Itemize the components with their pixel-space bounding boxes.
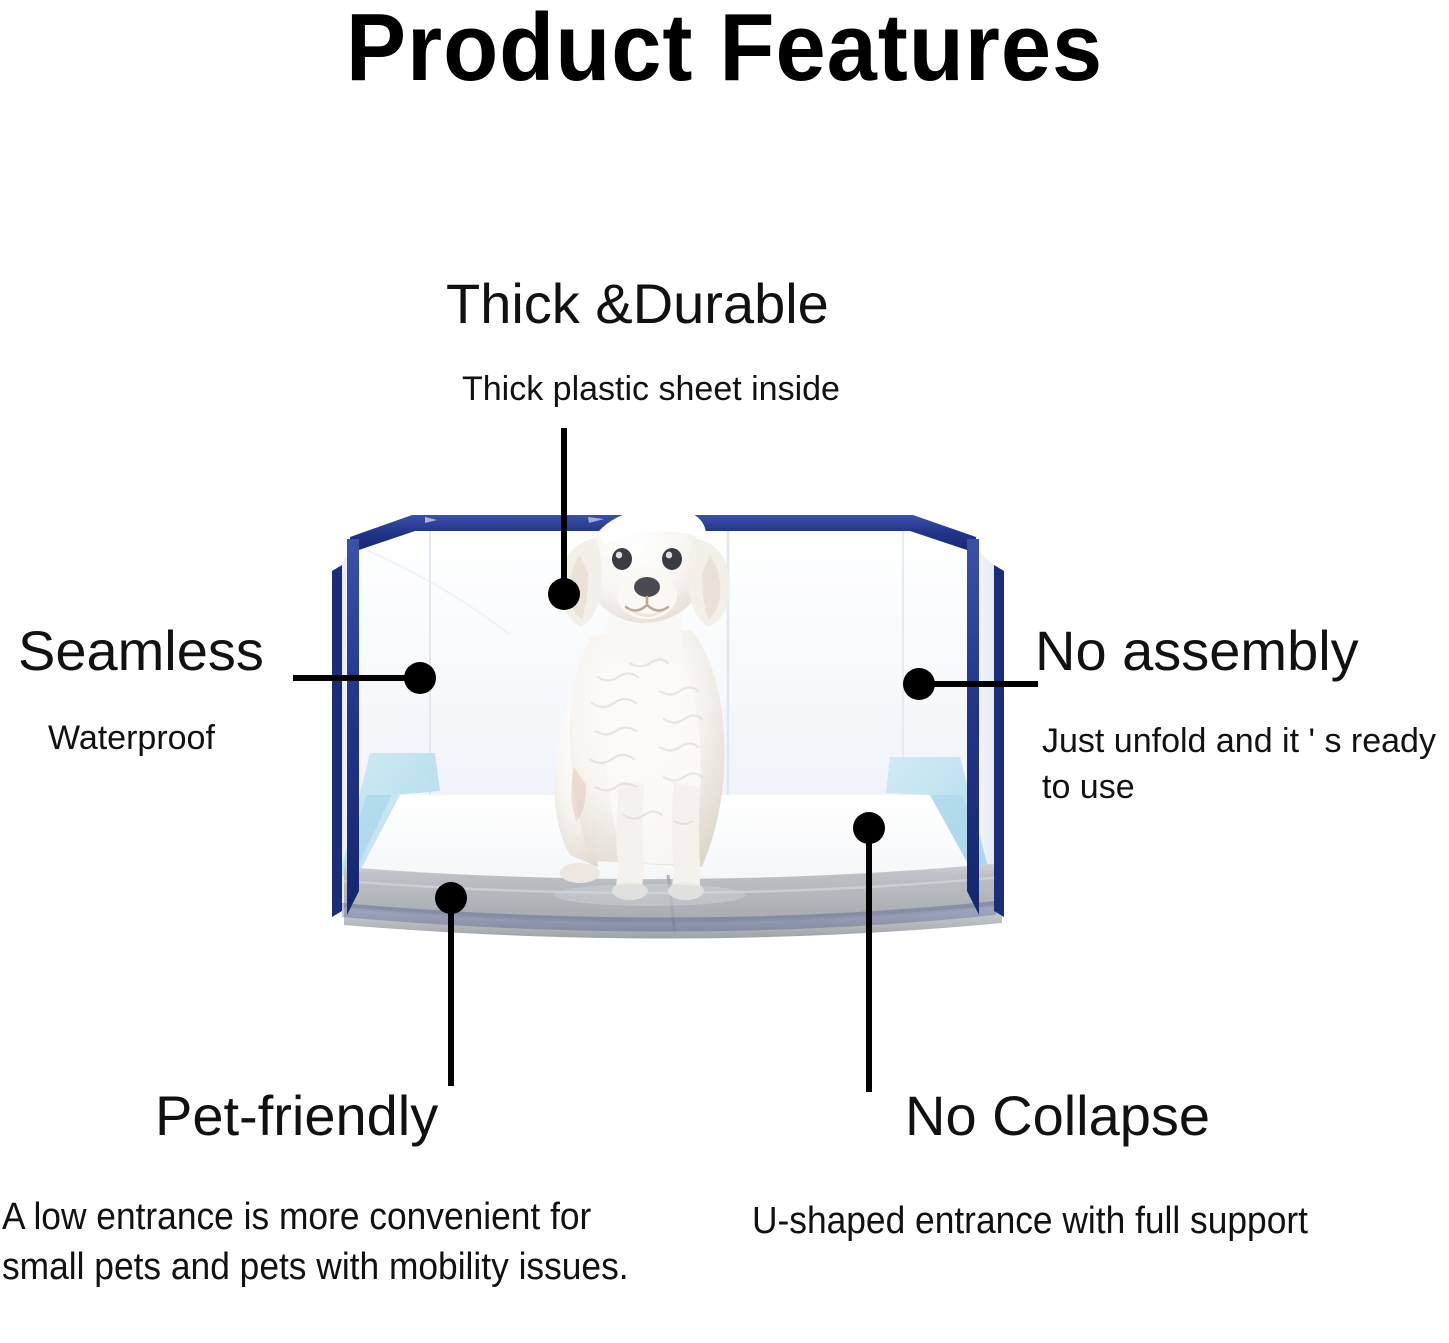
page-title: Product Features [43, 0, 1405, 100]
product-image [330, 495, 1040, 955]
leader-dot-no-collapse [853, 812, 885, 844]
feature-heading-no-collapse: No Collapse [905, 1084, 1210, 1148]
pen-right-post [967, 539, 979, 915]
feature-subtext-no-collapse: U-shaped entrance with full support [752, 1196, 1403, 1246]
feature-subtext-no-assembly: Just unfold and it ' s ready to use [1042, 718, 1449, 810]
leader-dot-seamless [404, 662, 436, 694]
feature-subtext-seamless: Waterproof [48, 715, 215, 761]
leader-line-no-collapse [866, 826, 872, 1092]
leader-dot-pet-friendly [435, 882, 467, 914]
pen-left-edge [332, 565, 342, 917]
feature-subtext-pet-friendly: A low entrance is more convenient for sm… [2, 1192, 653, 1292]
dog-eye-right [662, 548, 682, 570]
pet-pen-illustration [330, 495, 1040, 955]
leader-line-pet-friendly [448, 896, 454, 1086]
leader-line-no-assembly [922, 681, 1038, 687]
feature-heading-pet-friendly: Pet-friendly [155, 1084, 438, 1148]
leader-line-thick-durable [561, 428, 567, 594]
leader-dot-thick-durable [548, 578, 580, 610]
leader-dot-no-assembly [903, 668, 935, 700]
pen-left-post [347, 539, 359, 915]
dog-eye-left [612, 548, 632, 570]
dog-nose [634, 577, 660, 597]
feature-subtext-thick-durable: Thick plastic sheet inside [462, 366, 840, 412]
feature-heading-thick-durable: Thick &Durable [446, 272, 829, 336]
feature-heading-seamless: Seamless [18, 619, 264, 683]
pen-right-edge [994, 565, 1004, 917]
feature-heading-no-assembly: No assembly [1035, 619, 1359, 683]
